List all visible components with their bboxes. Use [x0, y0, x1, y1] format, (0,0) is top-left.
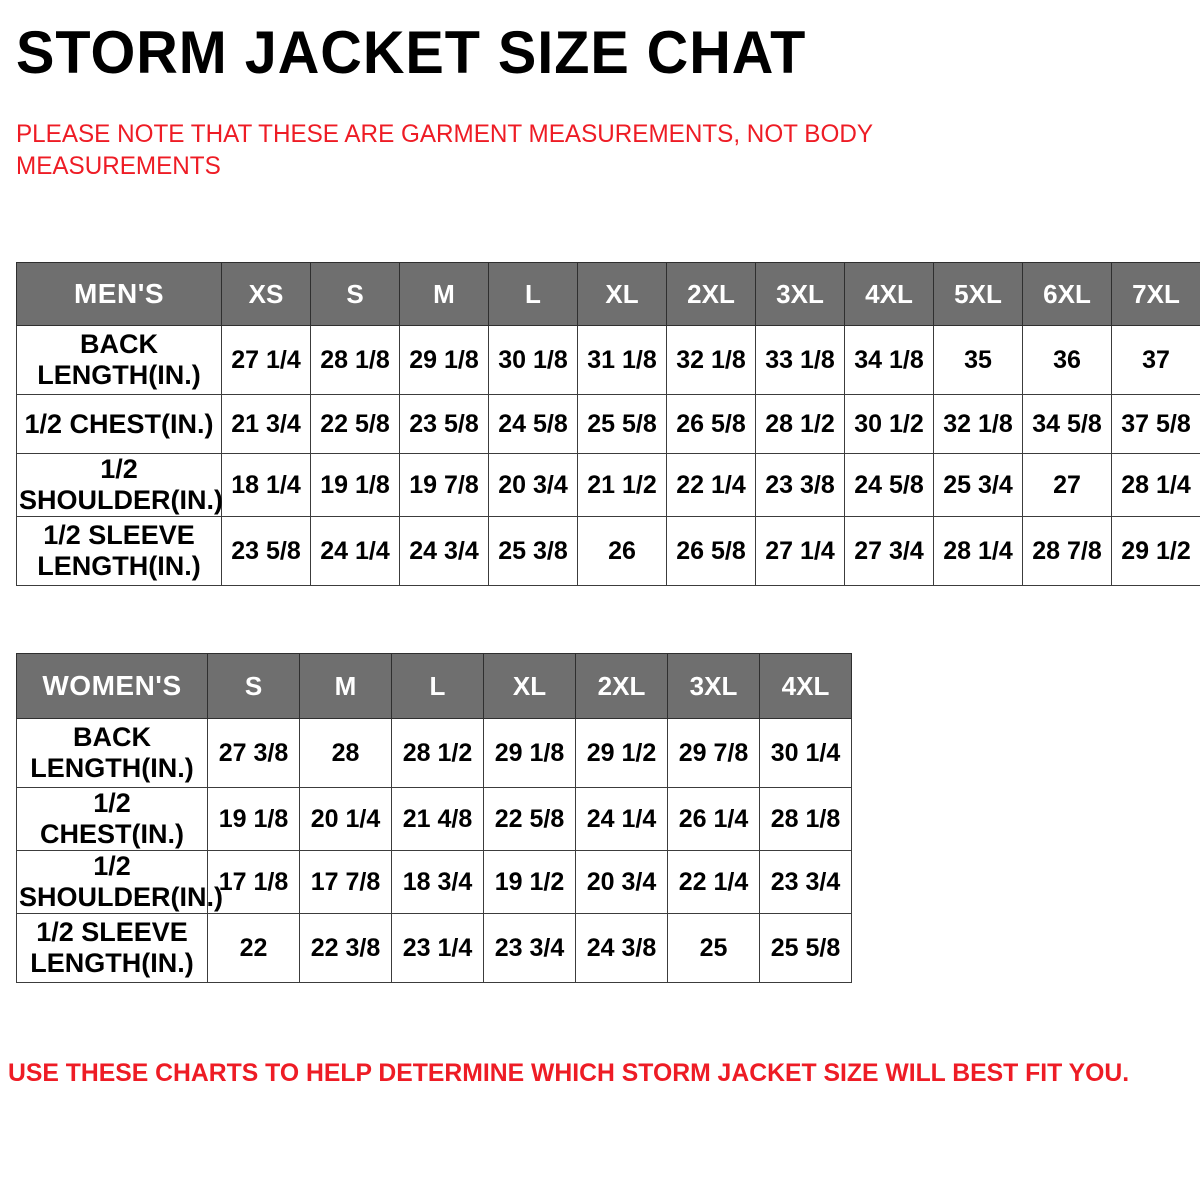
womens-cell-half-chest-3xl: 26 1/4	[668, 788, 760, 851]
womens-header-row: WOMEN'S S M L XL 2XL 3XL 4XL	[17, 654, 852, 719]
mens-cell-half-shoulder-4xl: 24 5/8	[845, 454, 934, 517]
mens-cell-back-length-4xl: 34 1/8	[845, 326, 934, 395]
mens-cell-half-chest-5xl: 32 1/8	[934, 395, 1023, 454]
mens-cell-half-shoulder-xs: 18 1/4	[222, 454, 311, 517]
mens-cell-half-shoulder-2xl: 22 1/4	[667, 454, 756, 517]
womens-label-header: WOMEN'S	[17, 654, 208, 719]
mens-cell-half-shoulder-6xl: 27	[1023, 454, 1112, 517]
mens-cell-back-length-m: 29 1/8	[400, 326, 489, 395]
womens-cell-half-sleeve-l: 23 1/4	[392, 914, 484, 983]
table-row: 1/2 SLEEVE LENGTH(IN.) 23 5/8 24 1/4 24 …	[17, 517, 1200, 586]
mens-row-label-half-chest: 1/2 CHEST(IN.)	[17, 395, 222, 454]
womens-cell-back-length-2xl: 29 1/2	[576, 719, 668, 788]
mens-cell-half-chest-7xl: 37 5/8	[1112, 395, 1200, 454]
womens-size-table: WOMEN'S S M L XL 2XL 3XL 4XL BACK LENGTH…	[16, 653, 852, 983]
mens-label-header: MEN'S	[17, 263, 222, 326]
mens-cell-half-shoulder-s: 19 1/8	[311, 454, 400, 517]
mens-cell-half-shoulder-m: 19 7/8	[400, 454, 489, 517]
mens-cell-back-length-6xl: 36	[1023, 326, 1112, 395]
womens-cell-back-length-s: 27 3/8	[208, 719, 300, 788]
mens-cell-half-sleeve-m: 24 3/4	[400, 517, 489, 586]
womens-row-label-half-shoulder: 1/2 SHOULDER(IN.)	[17, 851, 208, 914]
mens-col-header-7xl: 7XL	[1112, 263, 1200, 326]
mens-cell-back-length-3xl: 33 1/8	[756, 326, 845, 395]
womens-row-label-half-sleeve-length: 1/2 SLEEVE LENGTH(IN.)	[17, 914, 208, 983]
womens-col-header-4xl: 4XL	[760, 654, 852, 719]
womens-cell-back-length-l: 28 1/2	[392, 719, 484, 788]
womens-col-header-3xl: 3XL	[668, 654, 760, 719]
womens-col-header-l: L	[392, 654, 484, 719]
womens-col-header-xl: XL	[484, 654, 576, 719]
mens-cell-half-chest-2xl: 26 5/8	[667, 395, 756, 454]
table-row: 1/2 CHEST(IN.) 19 1/8 20 1/4 21 4/8 22 5…	[17, 788, 852, 851]
mens-cell-half-shoulder-l: 20 3/4	[489, 454, 578, 517]
mens-cell-half-shoulder-5xl: 25 3/4	[934, 454, 1023, 517]
mens-cell-half-sleeve-l: 25 3/8	[489, 517, 578, 586]
page-title: STORM JACKET SIZE CHAT	[16, 22, 806, 84]
mens-col-header-4xl: 4XL	[845, 263, 934, 326]
mens-cell-back-length-5xl: 35	[934, 326, 1023, 395]
mens-cell-half-sleeve-2xl: 26 5/8	[667, 517, 756, 586]
mens-cell-half-chest-l: 24 5/8	[489, 395, 578, 454]
mens-cell-back-length-l: 30 1/8	[489, 326, 578, 395]
table-row: BACK LENGTH(IN.) 27 1/4 28 1/8 29 1/8 30…	[17, 326, 1200, 395]
womens-cell-half-chest-m: 20 1/4	[300, 788, 392, 851]
womens-cell-half-chest-s: 19 1/8	[208, 788, 300, 851]
table-row: 1/2 SHOULDER(IN.) 18 1/4 19 1/8 19 7/8 2…	[17, 454, 1200, 517]
mens-cell-half-shoulder-3xl: 23 3/8	[756, 454, 845, 517]
womens-col-header-s: S	[208, 654, 300, 719]
womens-cell-half-chest-xl: 22 5/8	[484, 788, 576, 851]
mens-cell-half-sleeve-4xl: 27 3/4	[845, 517, 934, 586]
womens-cell-half-shoulder-4xl: 23 3/4	[760, 851, 852, 914]
mens-cell-half-sleeve-7xl: 29 1/2	[1112, 517, 1200, 586]
table-row: BACK LENGTH(IN.) 27 3/8 28 28 1/2 29 1/8…	[17, 719, 852, 788]
womens-cell-half-chest-2xl: 24 1/4	[576, 788, 668, 851]
mens-cell-half-sleeve-6xl: 28 7/8	[1023, 517, 1112, 586]
mens-cell-back-length-7xl: 37	[1112, 326, 1200, 395]
mens-cell-back-length-xs: 27 1/4	[222, 326, 311, 395]
mens-cell-back-length-s: 28 1/8	[311, 326, 400, 395]
womens-row-label-half-chest: 1/2 CHEST(IN.)	[17, 788, 208, 851]
mens-cell-half-chest-m: 23 5/8	[400, 395, 489, 454]
mens-size-table: MEN'S XS S M L XL 2XL 3XL 4XL 5XL 6XL 7X…	[16, 262, 1200, 586]
womens-cell-half-sleeve-s: 22	[208, 914, 300, 983]
mens-cell-half-chest-3xl: 28 1/2	[756, 395, 845, 454]
mens-cell-half-sleeve-xs: 23 5/8	[222, 517, 311, 586]
size-chart-page: STORM JACKET SIZE CHAT PLEASE NOTE THAT …	[0, 0, 1200, 1200]
mens-col-header-6xl: 6XL	[1023, 263, 1112, 326]
womens-cell-half-shoulder-2xl: 20 3/4	[576, 851, 668, 914]
mens-cell-half-sleeve-xl: 26	[578, 517, 667, 586]
mens-row-label-back-length: BACK LENGTH(IN.)	[17, 326, 222, 395]
womens-cell-half-shoulder-3xl: 22 1/4	[668, 851, 760, 914]
table-row: 1/2 CHEST(IN.) 21 3/4 22 5/8 23 5/8 24 5…	[17, 395, 1200, 454]
table-row: 1/2 SLEEVE LENGTH(IN.) 22 22 3/8 23 1/4 …	[17, 914, 852, 983]
mens-cell-half-chest-xl: 25 5/8	[578, 395, 667, 454]
womens-cell-half-sleeve-3xl: 25	[668, 914, 760, 983]
mens-col-header-s: S	[311, 263, 400, 326]
mens-row-label-half-sleeve-length: 1/2 SLEEVE LENGTH(IN.)	[17, 517, 222, 586]
mens-cell-half-chest-s: 22 5/8	[311, 395, 400, 454]
womens-cell-half-sleeve-xl: 23 3/4	[484, 914, 576, 983]
mens-table-body: BACK LENGTH(IN.) 27 1/4 28 1/8 29 1/8 30…	[17, 326, 1200, 586]
mens-row-label-half-shoulder: 1/2 SHOULDER(IN.)	[17, 454, 222, 517]
mens-col-header-m: M	[400, 263, 489, 326]
womens-table-body: BACK LENGTH(IN.) 27 3/8 28 28 1/2 29 1/8…	[17, 719, 852, 983]
mens-header-row: MEN'S XS S M L XL 2XL 3XL 4XL 5XL 6XL 7X…	[17, 263, 1200, 326]
mens-col-header-5xl: 5XL	[934, 263, 1023, 326]
womens-col-header-2xl: 2XL	[576, 654, 668, 719]
mens-cell-half-sleeve-5xl: 28 1/4	[934, 517, 1023, 586]
mens-col-header-xs: XS	[222, 263, 311, 326]
mens-col-header-xl: XL	[578, 263, 667, 326]
womens-cell-half-sleeve-2xl: 24 3/8	[576, 914, 668, 983]
womens-cell-half-chest-l: 21 4/8	[392, 788, 484, 851]
garment-measurement-note: PLEASE NOTE THAT THESE ARE GARMENT MEASU…	[16, 118, 947, 182]
womens-cell-half-sleeve-m: 22 3/8	[300, 914, 392, 983]
size-help-note: USE THESE CHARTS TO HELP DETERMINE WHICH…	[8, 1058, 1147, 1088]
mens-col-header-l: L	[489, 263, 578, 326]
mens-cell-back-length-2xl: 32 1/8	[667, 326, 756, 395]
womens-row-label-back-length: BACK LENGTH(IN.)	[17, 719, 208, 788]
mens-col-header-3xl: 3XL	[756, 263, 845, 326]
womens-cell-half-shoulder-m: 17 7/8	[300, 851, 392, 914]
womens-cell-half-sleeve-4xl: 25 5/8	[760, 914, 852, 983]
mens-col-header-2xl: 2XL	[667, 263, 756, 326]
mens-cell-half-sleeve-s: 24 1/4	[311, 517, 400, 586]
mens-cell-half-chest-6xl: 34 5/8	[1023, 395, 1112, 454]
womens-cell-back-length-m: 28	[300, 719, 392, 788]
womens-cell-back-length-4xl: 30 1/4	[760, 719, 852, 788]
womens-cell-half-shoulder-l: 18 3/4	[392, 851, 484, 914]
womens-col-header-m: M	[300, 654, 392, 719]
womens-cell-half-chest-4xl: 28 1/8	[760, 788, 852, 851]
mens-cell-half-sleeve-3xl: 27 1/4	[756, 517, 845, 586]
mens-cell-half-shoulder-7xl: 28 1/4	[1112, 454, 1200, 517]
mens-cell-back-length-xl: 31 1/8	[578, 326, 667, 395]
womens-cell-back-length-xl: 29 1/8	[484, 719, 576, 788]
table-row: 1/2 SHOULDER(IN.) 17 1/8 17 7/8 18 3/4 1…	[17, 851, 852, 914]
mens-table-header: MEN'S XS S M L XL 2XL 3XL 4XL 5XL 6XL 7X…	[17, 263, 1200, 326]
mens-cell-half-shoulder-xl: 21 1/2	[578, 454, 667, 517]
mens-cell-half-chest-xs: 21 3/4	[222, 395, 311, 454]
womens-cell-back-length-3xl: 29 7/8	[668, 719, 760, 788]
mens-cell-half-chest-4xl: 30 1/2	[845, 395, 934, 454]
womens-table-header: WOMEN'S S M L XL 2XL 3XL 4XL	[17, 654, 852, 719]
womens-cell-half-shoulder-xl: 19 1/2	[484, 851, 576, 914]
